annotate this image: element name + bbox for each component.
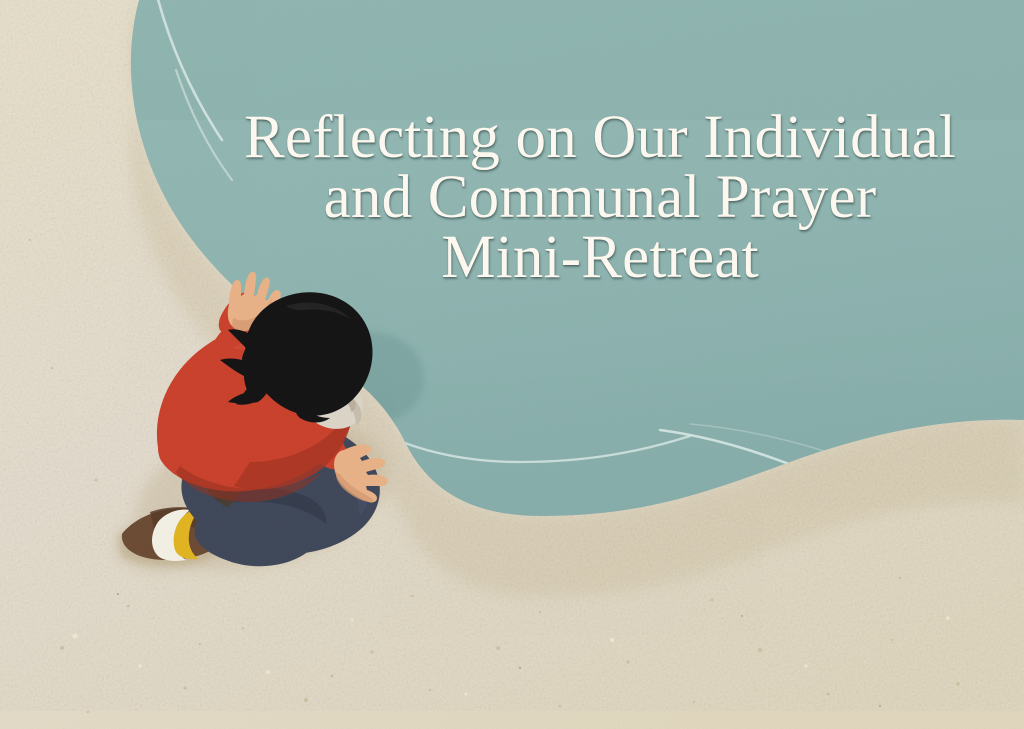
beach-illustration: [0, 0, 1024, 729]
retreat-banner: Reflecting on Our Individual and Communa…: [0, 0, 1024, 729]
paper-grain-overlay: [0, 0, 1024, 729]
